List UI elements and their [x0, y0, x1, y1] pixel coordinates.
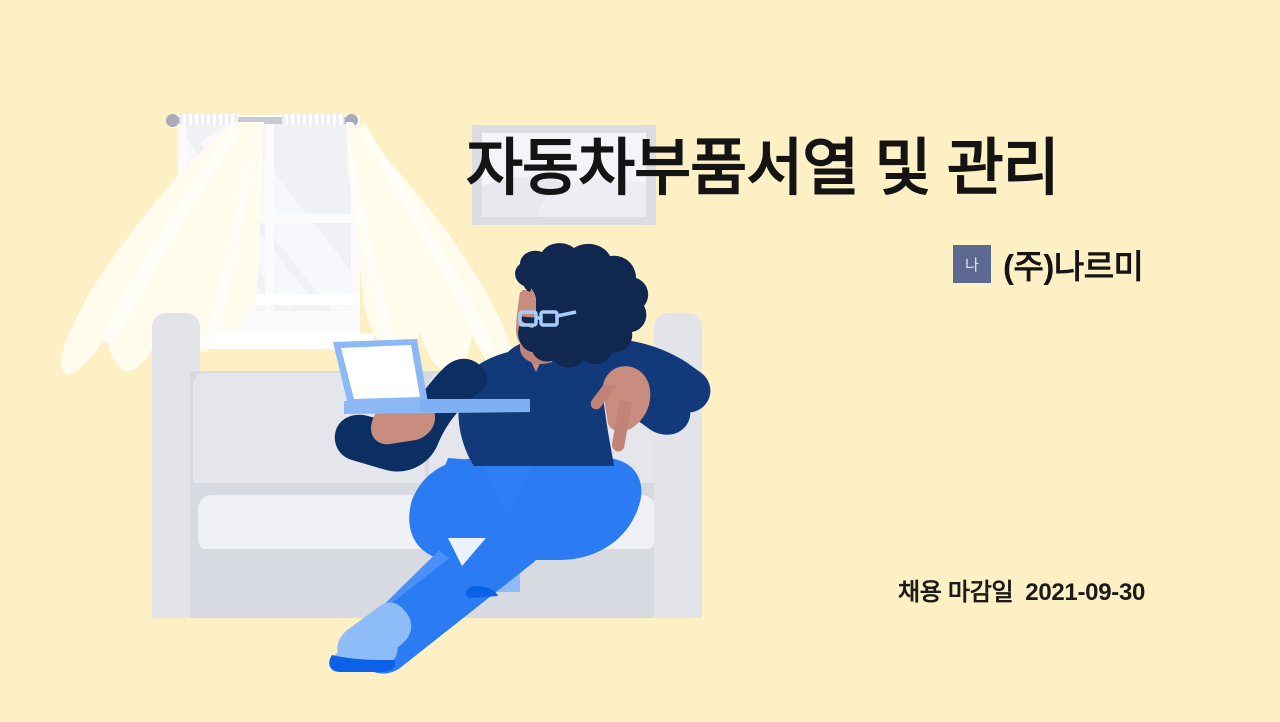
deadline-row: 채용 마감일2021-09-30 — [898, 572, 1145, 607]
deadline-date: 2021-09-30 — [1025, 579, 1145, 606]
person-illustration — [0, 0, 760, 722]
page-title: 자동차부품서열 및 관리 — [466, 132, 1166, 205]
illustration — [0, 0, 760, 722]
company-row[interactable]: 나 (주)나르미 — [953, 240, 1143, 288]
deadline-label: 채용 마감일 — [898, 579, 1013, 606]
company-logo: 나 — [953, 245, 991, 283]
job-posting-card: 자동차부품서열 및 관리 나 (주)나르미 채용 마감일2021-09-30 — [0, 0, 1280, 722]
company-name: (주)나르미 — [1003, 240, 1143, 288]
